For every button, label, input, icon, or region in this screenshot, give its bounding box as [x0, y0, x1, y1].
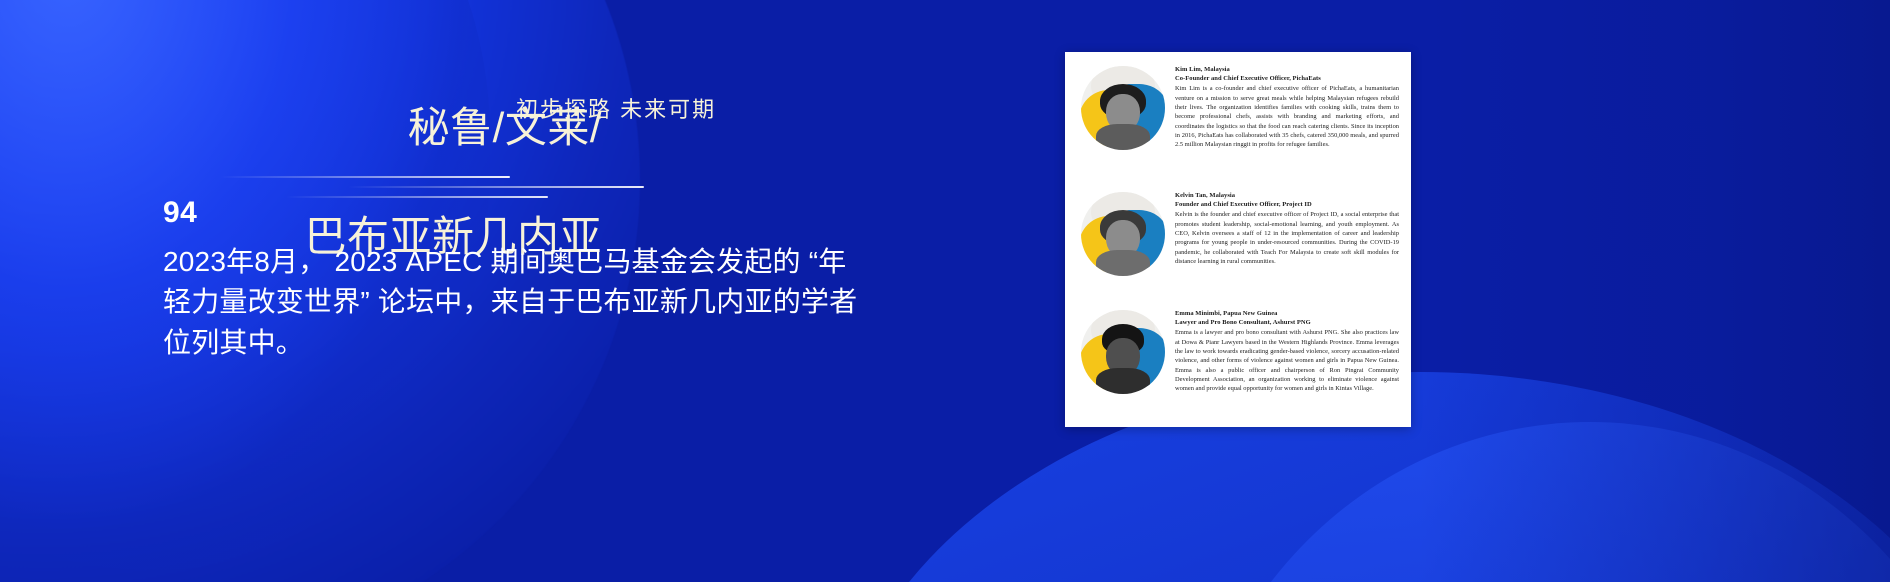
underline-stroke-2 [348, 186, 644, 188]
document-entry-text: Emma Minimbi, Papua New Guinea Lawyer an… [1175, 308, 1399, 420]
document-entry-role: Founder and Chief Executive Officer, Pro… [1175, 201, 1399, 210]
avatar-body [1096, 368, 1150, 394]
document-entry-body: Kim Lim is a co-founder and chief execut… [1175, 84, 1399, 149]
document-entry-role: Lawyer and Pro Bono Consultant, Ashurst … [1175, 319, 1399, 328]
document-entry-name: Kelvin Tan, Malaysia [1175, 192, 1399, 201]
document-entry-name: Emma Minimbi, Papua New Guinea [1175, 310, 1399, 319]
document-entry: Emma Minimbi, Papua New Guinea Lawyer an… [1065, 298, 1411, 420]
page-subtitle: 初步探路 未来可期 [516, 92, 716, 124]
document-image-card: Kim Lim, Malaysia Co-Founder and Chief E… [1065, 52, 1411, 427]
avatar [1081, 192, 1165, 276]
avatar [1081, 310, 1165, 394]
avatar-body [1096, 124, 1150, 150]
slide-canvas: 秘鲁/文莱/ 巴布亚新几内亚 初步探路 未来可期 94 2023年8月， 202… [0, 0, 1890, 582]
avatar-portrait [1096, 208, 1150, 276]
body-paragraph: 2023年8月， 2023 APEC 期间奥巴马基金会发起的 “年轻力量改变世界… [163, 242, 863, 363]
avatar-portrait [1096, 82, 1150, 150]
document-entry-body: Kelvin is the founder and chief executiv… [1175, 210, 1399, 266]
avatar [1081, 66, 1165, 150]
stat-number: 94 [163, 198, 197, 228]
document-entry-body: Emma is a lawyer and pro bono consultant… [1175, 328, 1399, 393]
document-entry: Kim Lim, Malaysia Co-Founder and Chief E… [1065, 52, 1411, 180]
text-column: 秘鲁/文莱/ 巴布亚新几内亚 初步探路 未来可期 94 2023年8月， 202… [0, 0, 1060, 582]
underline-stroke-1 [220, 176, 510, 178]
document-entry-name: Kim Lim, Malaysia [1175, 66, 1399, 75]
title-underline-decoration [162, 176, 632, 202]
underline-stroke-3 [286, 196, 548, 198]
document-entry-text: Kelvin Tan, Malaysia Founder and Chief E… [1175, 190, 1399, 298]
avatar-body [1096, 250, 1150, 276]
document-entry: Kelvin Tan, Malaysia Founder and Chief E… [1065, 180, 1411, 298]
document-entry-text: Kim Lim, Malaysia Co-Founder and Chief E… [1175, 64, 1399, 180]
avatar-portrait [1096, 326, 1150, 394]
document-entry-role: Co-Founder and Chief Executive Officer, … [1175, 75, 1399, 84]
